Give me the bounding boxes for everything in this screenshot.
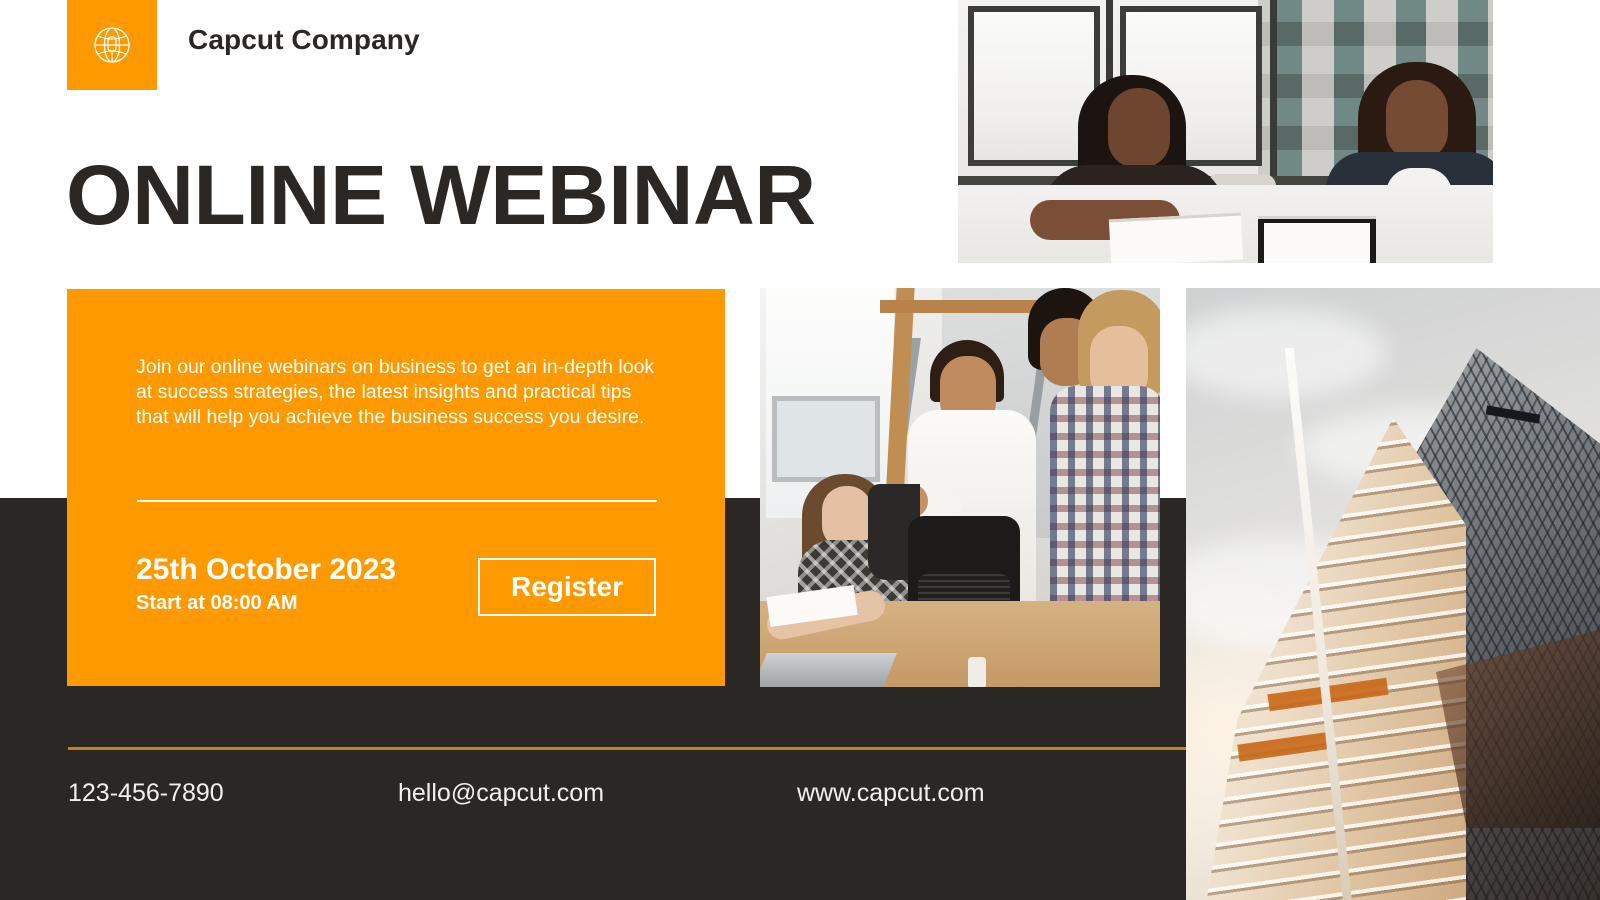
team-photo <box>760 288 1160 687</box>
laptop <box>760 653 897 687</box>
card-divider <box>137 500 657 502</box>
event-date: 25th October 2023 <box>136 553 396 587</box>
event-time: Start at 08:00 AM <box>136 592 298 615</box>
page-title: ONLINE WEBINAR <box>66 150 816 240</box>
person-face <box>822 486 872 548</box>
globe-icon <box>89 22 135 68</box>
contact-email[interactable]: hello@capcut.com <box>398 779 604 808</box>
company-name: Capcut Company <box>188 24 420 56</box>
notebook <box>1258 216 1376 263</box>
register-button[interactable]: Register <box>478 558 656 616</box>
contact-website[interactable]: www.capcut.com <box>797 779 985 808</box>
window-mullion <box>1270 0 1277 186</box>
person-face <box>1386 80 1448 160</box>
footer-divider <box>68 747 1186 750</box>
meeting-photo <box>958 0 1493 263</box>
notebook <box>1109 213 1243 263</box>
card-description: Join our online webinars on business to … <box>136 355 666 430</box>
webinar-poster: Capcut Company ONLINE WEBINAR <box>0 0 1600 900</box>
person-face <box>1108 88 1170 168</box>
tower-photo <box>1186 288 1600 900</box>
water-bottle <box>968 657 986 687</box>
contact-phone[interactable]: 123-456-7890 <box>68 779 224 808</box>
window-frame <box>772 396 880 482</box>
info-card: Join our online webinars on business to … <box>67 289 725 686</box>
logo-badge <box>67 0 157 90</box>
